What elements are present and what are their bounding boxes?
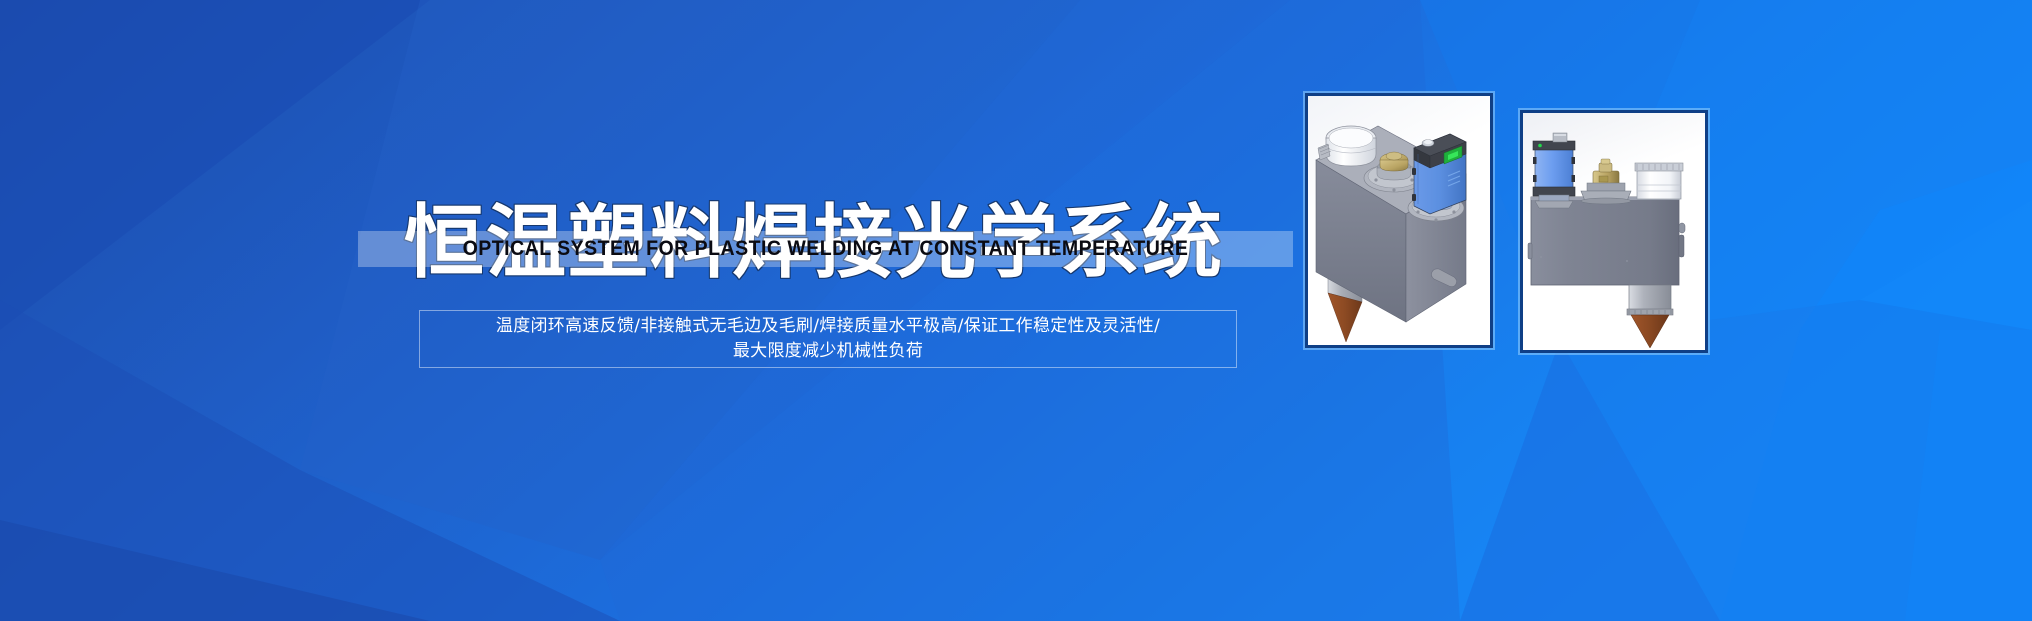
- subtitle-text: 温度闭环高速反馈/非接触式无毛边及毛刷/焊接质量水平极高/保证工作稳定性及灵活性…: [496, 314, 1160, 364]
- promotional-banner: 恒温塑料焊接光学系统 OPTICAL SYSTEM FOR PLASTIC WE…: [0, 0, 2032, 621]
- product-render-isometric: [1308, 96, 1490, 345]
- product-image-frame-isometric[interactable]: [1305, 93, 1493, 348]
- title-block: 恒温塑料焊接光学系统 OPTICAL SYSTEM FOR PLASTIC WE…: [404, 196, 1244, 316]
- subtitle-line-2: 最大限度减少机械性负荷: [733, 341, 923, 361]
- subtitle-line-1: 温度闭环高速反馈/非接触式无毛边及毛刷/焊接质量水平极高/保证工作稳定性及灵活性…: [496, 316, 1160, 336]
- product-render-front: [1523, 113, 1705, 350]
- subtitle-box: 温度闭环高速反馈/非接触式无毛边及毛刷/焊接质量水平极高/保证工作稳定性及灵活性…: [419, 310, 1237, 368]
- page-title-english: OPTICAL SYSTEM FOR PLASTIC WELDING AT CO…: [391, 231, 1261, 267]
- product-image-frame-front[interactable]: [1520, 110, 1708, 353]
